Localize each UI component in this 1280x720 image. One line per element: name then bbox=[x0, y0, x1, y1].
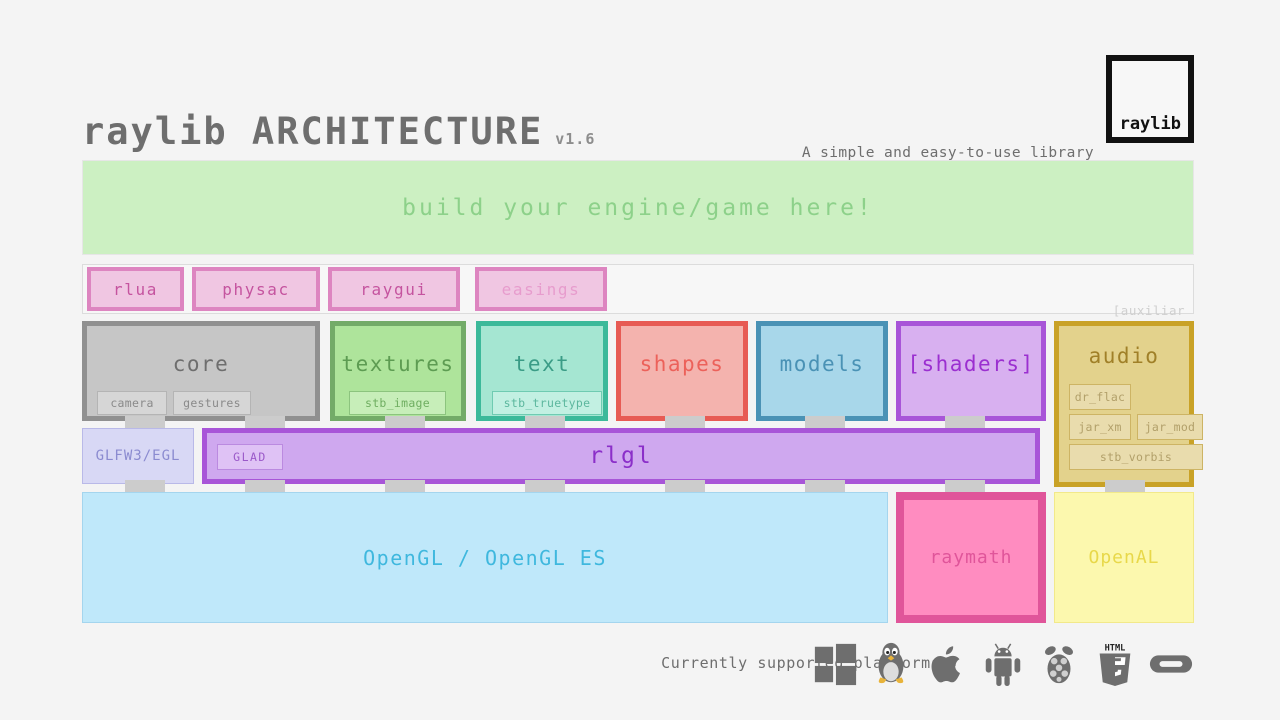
glfw3-egl-box: GLFW3/EGL bbox=[82, 428, 194, 484]
sub-module-stb_vorbis[interactable]: stb_vorbis bbox=[1069, 444, 1203, 470]
sub-module-stb_truetype[interactable]: stb_truetype bbox=[492, 391, 602, 415]
module-core[interactable]: corecameragestures bbox=[82, 321, 320, 421]
aux-module-label: raygui bbox=[360, 280, 427, 299]
module-shaders[interactable]: [shaders] bbox=[896, 321, 1046, 421]
header: raylib ARCHITECTURE v1.6 A simple and ea… bbox=[0, 0, 1280, 152]
footer: Currently supported platforms: HTML bbox=[0, 636, 1280, 696]
module-textures[interactable]: texturesstb_image bbox=[330, 321, 466, 421]
connector-tab bbox=[805, 480, 845, 492]
aux-module-label: rlua bbox=[113, 280, 158, 299]
glfw3-egl-label: GLFW3/EGL bbox=[96, 448, 181, 464]
raspberry-pi-icon bbox=[1036, 641, 1082, 687]
rlgl-box: rlgl GLAD bbox=[202, 428, 1040, 484]
module-shapes[interactable]: shapes bbox=[616, 321, 748, 421]
connector-tab bbox=[385, 480, 425, 492]
module-label: audio bbox=[1059, 344, 1189, 368]
aux-module-rlua[interactable]: rlua bbox=[87, 267, 184, 311]
sub-module-jar_xm[interactable]: jar_xm bbox=[1069, 414, 1131, 440]
raylib-logo: raylib bbox=[1106, 55, 1194, 143]
sub-module-dr_flac[interactable]: dr_flac bbox=[1069, 384, 1131, 410]
module-audio[interactable]: audiodr_flacjar_xmjar_modstb_vorbis bbox=[1054, 321, 1194, 487]
oculus-icon bbox=[1148, 641, 1194, 687]
apple-icon bbox=[924, 641, 970, 687]
windows-icon bbox=[812, 641, 858, 687]
module-label: textures bbox=[335, 352, 461, 376]
connector-tab bbox=[665, 416, 705, 428]
module-text[interactable]: textstb_truetype bbox=[476, 321, 608, 421]
linux-tux-icon bbox=[868, 641, 914, 687]
aux-module-label: physac bbox=[222, 280, 289, 299]
svg-text:HTML: HTML bbox=[1105, 644, 1126, 654]
html5-icon: HTML bbox=[1092, 641, 1138, 687]
openal-label: OpenAL bbox=[1088, 547, 1159, 568]
connector-tab bbox=[525, 416, 565, 428]
connector-tab bbox=[125, 480, 165, 492]
aux-module-easings[interactable]: easings bbox=[475, 267, 607, 311]
platform-icons-list: HTML bbox=[812, 636, 1194, 692]
connector-tab bbox=[945, 416, 985, 428]
module-label: shapes bbox=[621, 352, 743, 376]
connector-tab bbox=[245, 416, 285, 428]
aux-caption-line-1: [auxiliar bbox=[1113, 303, 1185, 319]
module-label: models bbox=[761, 352, 883, 376]
rlgl-label: rlgl bbox=[207, 443, 1035, 469]
opengl-label: OpenGL / OpenGL ES bbox=[363, 546, 607, 570]
connector-tab bbox=[385, 416, 425, 428]
connector-tab bbox=[805, 416, 845, 428]
connector-tab bbox=[525, 480, 565, 492]
raymath-box: raymath bbox=[896, 492, 1046, 623]
version-label: v1.6 bbox=[555, 130, 595, 148]
connector-tab bbox=[245, 480, 285, 492]
logo-text: raylib bbox=[1120, 114, 1181, 134]
raymath-label: raymath bbox=[930, 547, 1013, 568]
aux-module-label: easings bbox=[502, 280, 581, 299]
opengl-box: OpenGL / OpenGL ES bbox=[82, 492, 888, 623]
glad-sub-box: GLAD bbox=[217, 444, 283, 470]
title-text: raylib ARCHITECTURE bbox=[82, 110, 543, 153]
build-your-engine-banner: build your engine/game here! bbox=[82, 160, 1194, 255]
module-label: core bbox=[87, 352, 315, 376]
android-icon bbox=[980, 641, 1026, 687]
module-label: [shaders] bbox=[901, 352, 1041, 376]
page-title: raylib ARCHITECTURE v1.6 bbox=[82, 110, 595, 153]
sub-module-camera[interactable]: camera bbox=[97, 391, 167, 415]
engine-banner-label: build your engine/game here! bbox=[402, 195, 874, 221]
module-label: text bbox=[481, 352, 603, 376]
sub-module-gestures[interactable]: gestures bbox=[173, 391, 251, 415]
aux-module-raygui[interactable]: raygui bbox=[328, 267, 460, 311]
sub-module-stb_image[interactable]: stb_image bbox=[349, 391, 446, 415]
connector-tab bbox=[945, 480, 985, 492]
auxiliar-modules-row: rluaphysacrayguieasings [auxiliar module… bbox=[82, 264, 1194, 314]
connector-tab bbox=[125, 416, 165, 428]
module-models[interactable]: models bbox=[756, 321, 888, 421]
connector-tab bbox=[1105, 480, 1145, 492]
sub-module-jar_mod[interactable]: jar_mod bbox=[1137, 414, 1203, 440]
connector-tab bbox=[665, 480, 705, 492]
openal-box: OpenAL bbox=[1054, 492, 1194, 623]
aux-module-physac[interactable]: physac bbox=[192, 267, 320, 311]
